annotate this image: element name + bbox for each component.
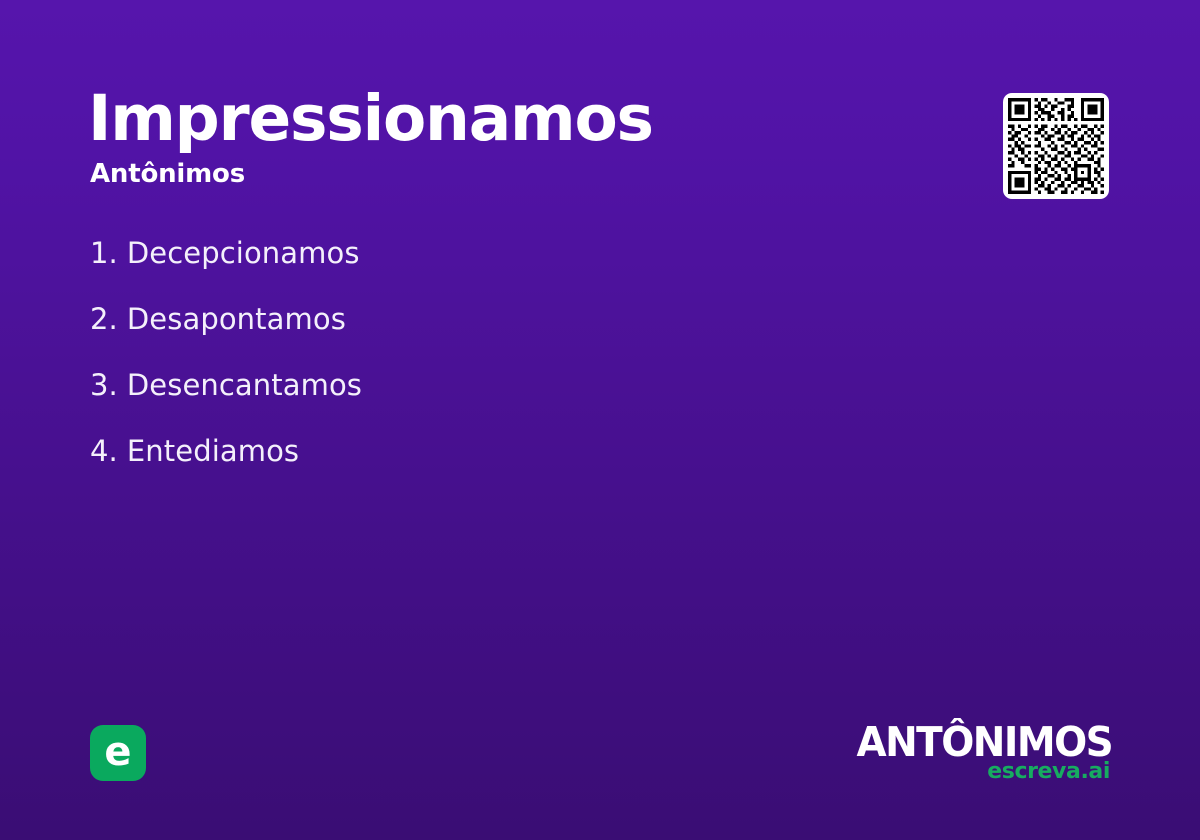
list-item-index: 4. xyxy=(90,434,118,468)
brand-wordmark: ANTÔNIMOS xyxy=(856,722,1112,763)
list-item-label: Desapontamos xyxy=(127,302,346,336)
page-title: Impressionamos xyxy=(88,86,888,152)
list-item-index: 1. xyxy=(90,236,118,270)
brand-badge-letter: e xyxy=(104,732,131,772)
page-subtitle: Antônimos xyxy=(90,160,888,189)
list-item-index: 2. xyxy=(90,302,118,336)
antonym-list: 1. Decepcionamos 2. Desapontamos 3. Dese… xyxy=(90,236,850,500)
list-item: 3. Desencantamos xyxy=(90,368,850,434)
headline-block: Impressionamos Antônimos xyxy=(88,86,888,189)
list-item: 2. Desapontamos xyxy=(90,302,850,368)
list-item-label: Desencantamos xyxy=(127,368,362,402)
list-item-label: Decepcionamos xyxy=(127,236,360,270)
qr-code-panel[interactable] xyxy=(1003,93,1109,199)
brand-lockup: ANTÔNIMOS escreva.ai xyxy=(843,722,1112,783)
escreva-logo-badge[interactable]: e xyxy=(90,725,146,781)
list-item-label: Entediamos xyxy=(127,434,299,468)
list-item: 4. Entediamos xyxy=(90,434,850,500)
qr-code-icon xyxy=(1008,98,1104,194)
list-item-index: 3. xyxy=(90,368,118,402)
list-item: 1. Decepcionamos xyxy=(90,236,850,302)
antonyms-card: Impressionamos Antônimos 1. Decepcionamo… xyxy=(0,0,1200,840)
